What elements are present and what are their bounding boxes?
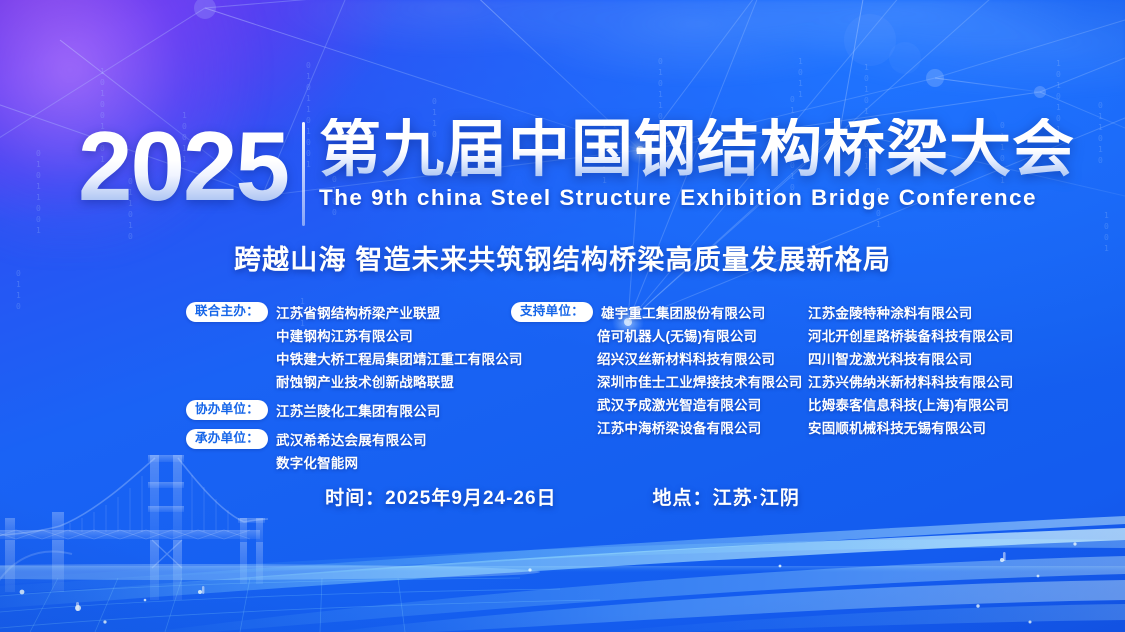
vignette-overlay: [0, 0, 1125, 632]
conference-banner: 0 1 0 1 1 0 0 1 1 0 1 0 0 1 1 0 1 0 0 1 …: [0, 0, 1125, 632]
